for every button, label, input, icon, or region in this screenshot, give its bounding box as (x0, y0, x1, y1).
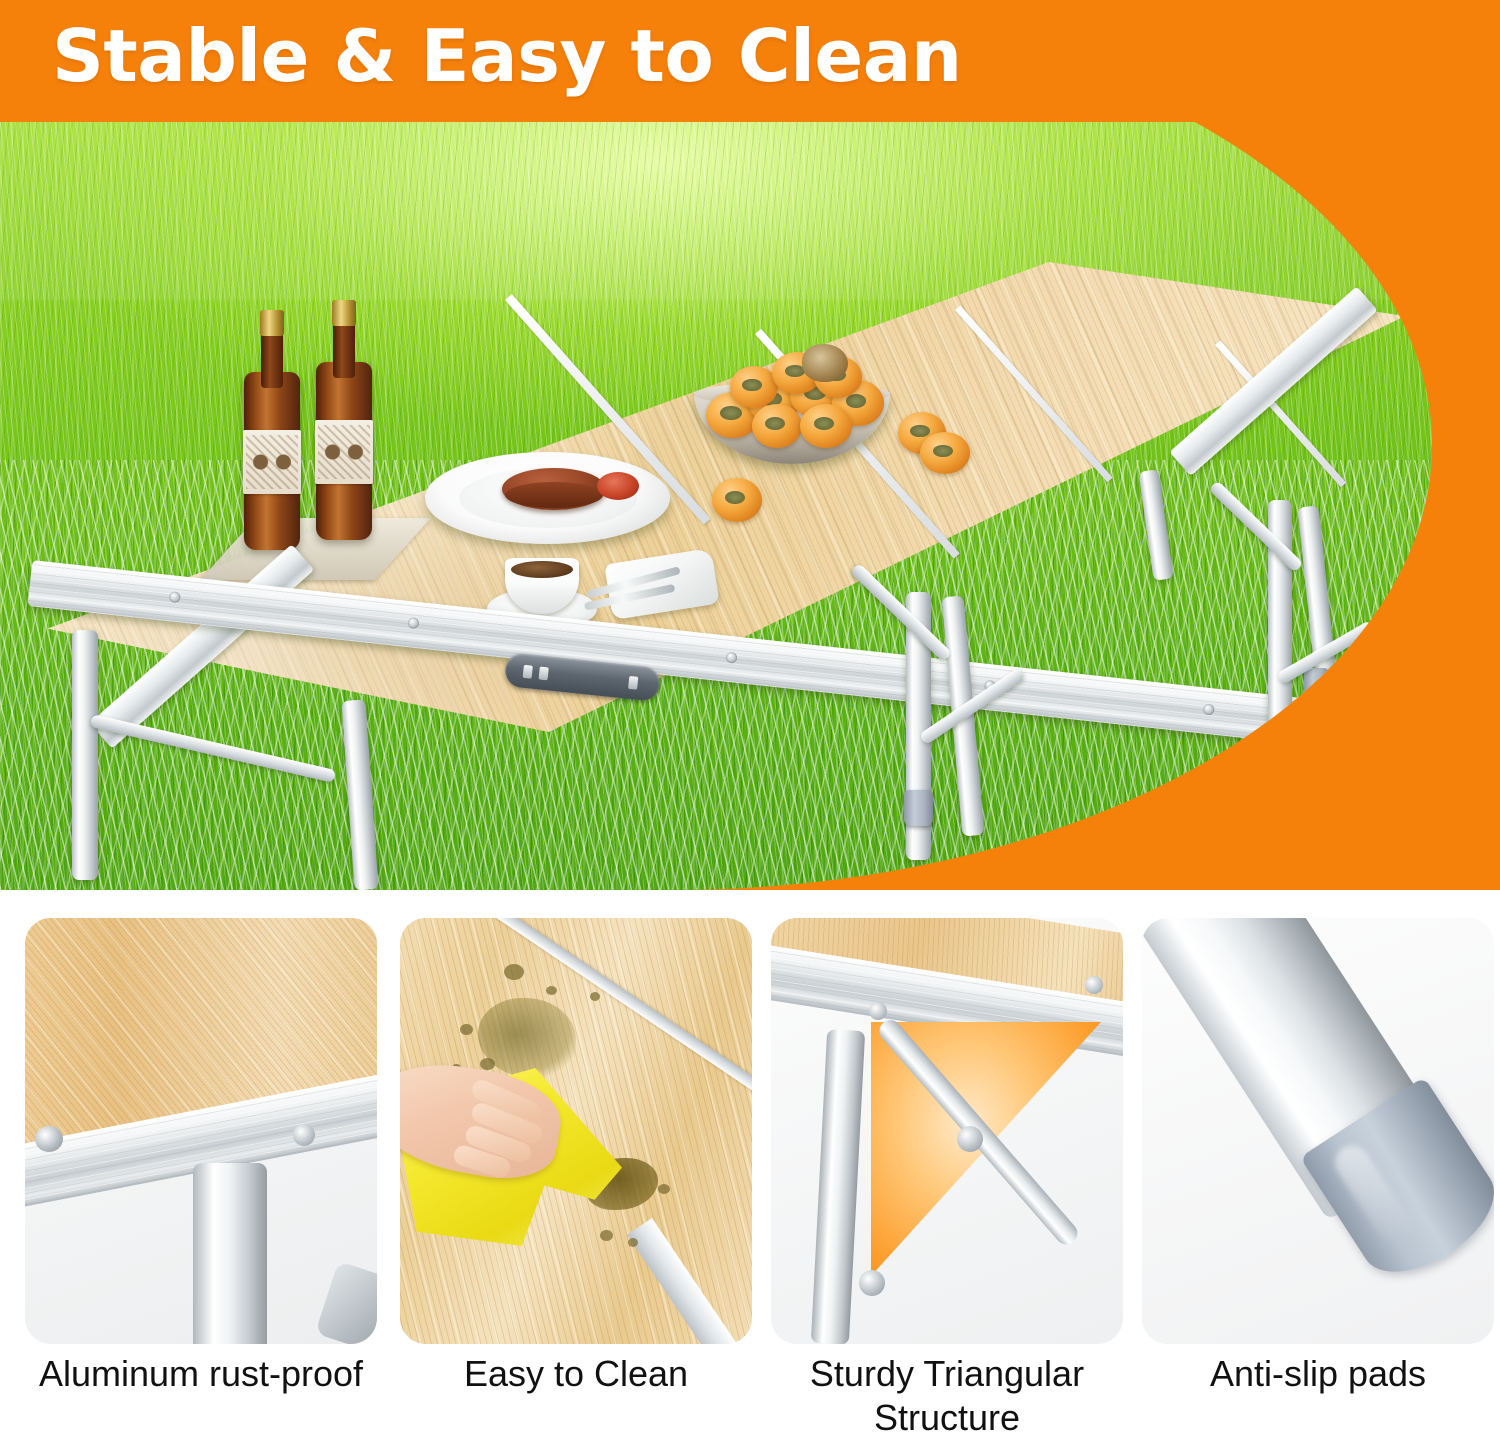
spill-droplet (460, 1024, 473, 1035)
bottle-label (315, 420, 373, 484)
hero-product-photo (0, 0, 1432, 890)
rim-screw (869, 1002, 887, 1020)
table-leg (72, 630, 98, 880)
wine-bottle (244, 310, 300, 560)
feature-card-anti-slip-pads[interactable] (1142, 918, 1494, 1344)
feature-card-sturdy-triangular-structure[interactable] (771, 918, 1123, 1344)
feature-caption-easy-to-clean: Easy to Clean (400, 1352, 752, 1396)
bottle-label (243, 430, 301, 494)
table-leg (1138, 469, 1173, 581)
anti-slip-foot (1304, 668, 1329, 700)
spill-droplet (480, 1058, 495, 1070)
header-banner: Stable & Easy to Clean (0, 0, 1500, 122)
tomato-slice (597, 472, 639, 500)
brace-pivot-joint (859, 1270, 885, 1296)
feature-card-aluminum-rust-proof[interactable] (25, 918, 377, 1344)
brace-pivot-joint (957, 1126, 983, 1152)
page-title: Stable & Easy to Clean (52, 14, 962, 98)
anti-slip-foot (1266, 782, 1294, 818)
feature-caption-aluminum-rust-proof: Aluminum rust-proof (25, 1352, 377, 1396)
spill-droplet (546, 986, 557, 995)
burger-patty-lower (505, 482, 603, 508)
feature-caption-anti-slip-pads: Anti-slip pads (1142, 1352, 1494, 1396)
spill-droplet (628, 1238, 638, 1247)
hero-section (0, 0, 1500, 890)
rim-screw (293, 1124, 315, 1146)
folding-table (0, 0, 1432, 890)
table-leg (193, 1163, 267, 1344)
pine-cone (802, 344, 848, 382)
persimmon (800, 404, 852, 448)
leg-brace (90, 714, 337, 783)
persimmon-loose (712, 478, 762, 522)
spill-droplet (504, 964, 524, 980)
wine-bottle (316, 300, 372, 550)
persimmon (752, 404, 802, 448)
persimmon (730, 366, 778, 408)
bottle-cap (260, 310, 284, 336)
rim-screw (1085, 976, 1103, 994)
feature-caption-sturdy-triangular-structure: Sturdy Triangular Structure (771, 1352, 1123, 1440)
coffee-liquid (511, 561, 573, 578)
spill-droplet (590, 992, 600, 1001)
handle-rivet (539, 666, 549, 680)
table-leg (341, 699, 378, 890)
spill-droplet (658, 1184, 670, 1194)
rim-bolt (35, 1126, 63, 1152)
feature-card-easy-to-clean[interactable] (400, 918, 752, 1344)
anti-slip-foot (904, 790, 933, 826)
feature-card-row (0, 918, 1500, 1344)
handle-rivet (523, 665, 533, 679)
spill-droplet (600, 1230, 613, 1241)
dinner-plate (425, 452, 670, 544)
handle-rivet (628, 676, 638, 690)
bottle-cap (332, 300, 356, 326)
leg-brace (850, 563, 953, 663)
persimmon-loose (920, 432, 970, 474)
